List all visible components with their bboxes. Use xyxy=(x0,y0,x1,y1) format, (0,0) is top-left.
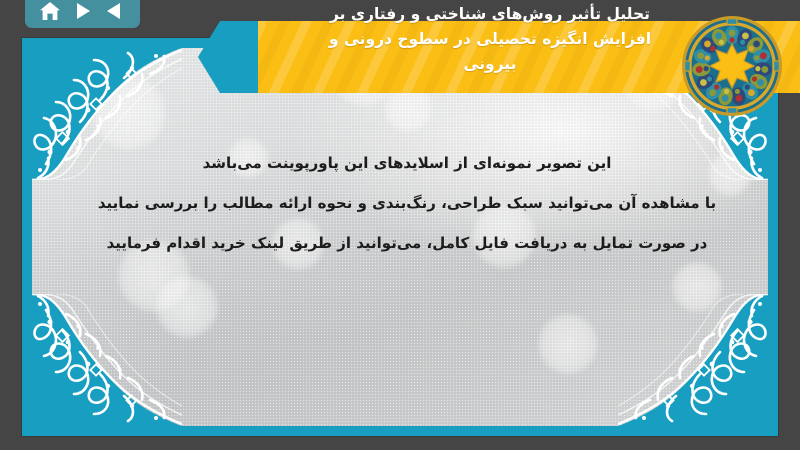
corner-ornament-top-right xyxy=(618,48,768,180)
body-line-1: این تصویر نمونه‌ای از اسلایدهای این پاور… xyxy=(68,143,746,183)
bokeh-circle xyxy=(708,152,752,196)
slide-root: این تصویر نمونه‌ای از اسلایدهای این پاور… xyxy=(0,0,800,450)
bokeh-circle xyxy=(228,138,268,178)
forward-triangle-icon xyxy=(74,2,91,20)
bokeh-circle xyxy=(472,204,536,268)
bokeh-circle xyxy=(332,48,396,106)
bokeh-circle xyxy=(118,240,190,312)
back-button[interactable] xyxy=(103,0,127,22)
bokeh-circle xyxy=(538,314,598,374)
body-line-2: با مشاهده آن می‌توانید سبک طراحی، رنگ‌بن… xyxy=(68,183,746,223)
navigation-bar[interactable] xyxy=(25,0,140,28)
bokeh-circle xyxy=(384,84,432,132)
corner-ornament-top-left xyxy=(32,48,182,180)
bokeh-circle xyxy=(92,76,166,150)
forward-button[interactable] xyxy=(71,0,95,22)
corner-ornament-bottom-right xyxy=(618,294,768,426)
body-line-3: در صورت تمایل به دریافت فایل کامل، می‌تو… xyxy=(68,223,746,263)
back-triangle-icon xyxy=(106,2,123,20)
home-button[interactable] xyxy=(38,0,62,22)
bokeh-circle xyxy=(156,276,218,338)
slide-body-text: این تصویر نمونه‌ای از اسلایدهای این پاور… xyxy=(68,143,746,263)
halftone-texture xyxy=(32,48,768,426)
corner-ornament-bottom-left xyxy=(32,294,182,426)
bokeh-circle xyxy=(272,218,324,270)
slide-canvas: این تصویر نمونه‌ای از اسلایدهای این پاور… xyxy=(32,48,768,426)
home-icon xyxy=(40,2,60,21)
bokeh-circle xyxy=(672,262,722,312)
bokeh-circle xyxy=(624,54,682,112)
